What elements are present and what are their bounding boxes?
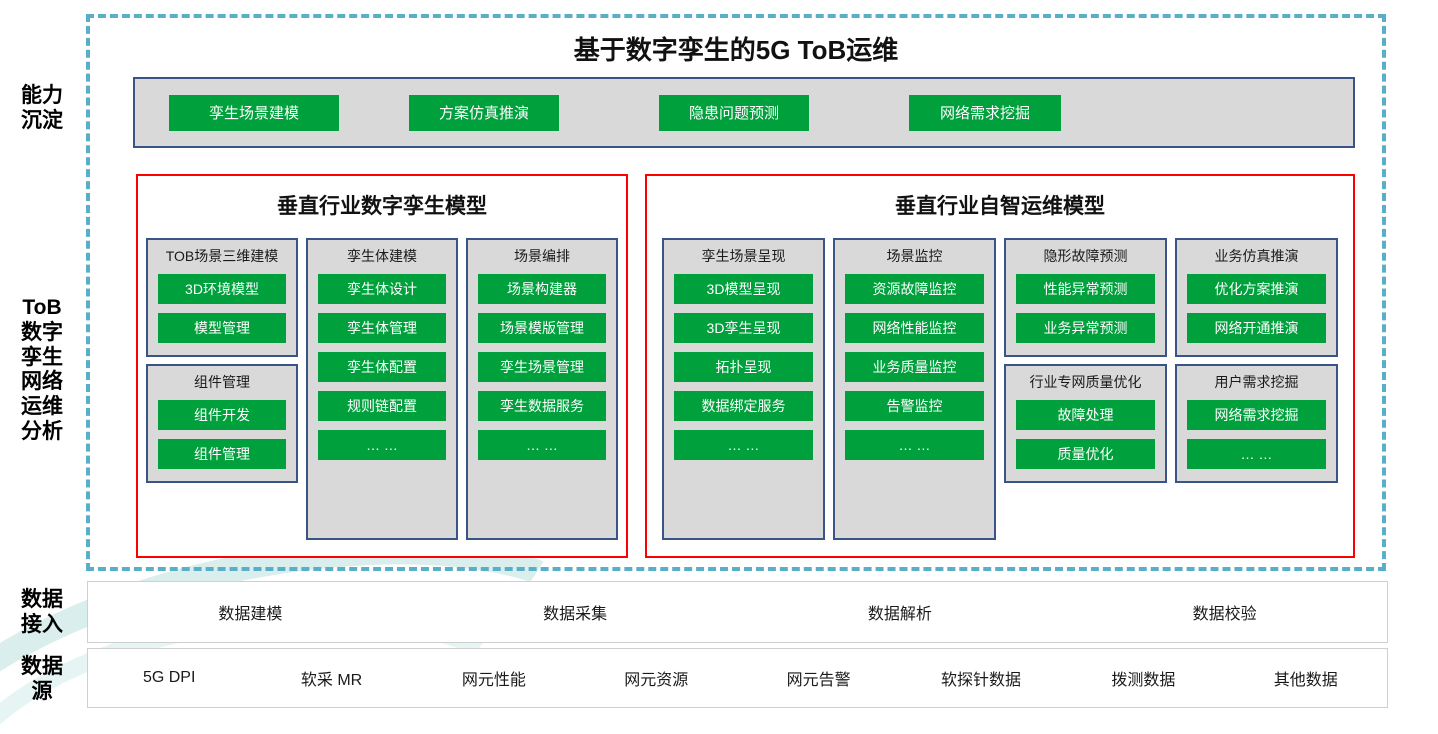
group-title: 用户需求挖掘 xyxy=(1187,374,1326,391)
rail-label-core: ToB数字孪生网络运维分析 xyxy=(0,296,84,445)
group-box: 孪生场景呈现3D模型呈现3D孪生呈现拓扑呈现数据绑定服务… … xyxy=(662,238,825,540)
data-source-row: 5G DPI软采 MR网元性能网元资源网元告警软探针数据拨测数据其他数据 xyxy=(87,648,1388,708)
group-box: 场景编排场景构建器场景模版管理孪生场景管理孪生数据服务… … xyxy=(466,238,618,540)
capability-tile[interactable]: 数据绑定服务 xyxy=(674,391,813,421)
capability-tile[interactable]: 网络性能监控 xyxy=(845,313,984,343)
group-title: 孪生体建模 xyxy=(318,248,446,265)
group-title: 场景编排 xyxy=(478,248,606,265)
data-access-item: 数据校验 xyxy=(1062,600,1387,624)
group-box: 组件管理组件开发组件管理 xyxy=(146,364,298,483)
rail-access-line-0: 数据 xyxy=(0,588,84,613)
rail-label-capability: 能力沉淀 xyxy=(0,84,84,134)
data-source-item: 5G DPI xyxy=(88,669,250,687)
data-source-item: 其他数据 xyxy=(1225,666,1387,690)
capability-chip-1[interactable]: 孪生场景建模 xyxy=(169,95,339,131)
capability-tile[interactable]: 业务异常预测 xyxy=(1016,313,1155,343)
panel-column-3: 场景编排场景构建器场景模版管理孪生场景管理孪生数据服务… … xyxy=(466,238,618,540)
capability-tile[interactable]: 场景构建器 xyxy=(478,274,606,304)
panel-column-3: 隐形故障预测性能异常预测业务异常预测行业专网质量优化故障处理质量优化 xyxy=(1004,238,1167,540)
rail-core-line-5: 分析 xyxy=(0,420,84,445)
rail-core-line-2: 孪生 xyxy=(0,346,84,371)
group-title: TOB场景三维建模 xyxy=(158,248,286,265)
rail-core-line-3: 网络 xyxy=(0,370,84,395)
capability-chip-4[interactable]: 网络需求挖掘 xyxy=(909,95,1061,131)
group-box: 场景监控资源故障监控网络性能监控业务质量监控告警监控… … xyxy=(833,238,996,540)
group-box: TOB场景三维建模3D环境模型模型管理 xyxy=(146,238,298,357)
capability-chip-list: 孪生场景建模方案仿真推演隐患问题预测网络需求挖掘 xyxy=(135,95,1353,131)
rail-core-line-4: 运维 xyxy=(0,395,84,420)
diagram-root: 能力沉淀 ToB数字孪生网络运维分析 数据接入 数据源 基于数字孪生的5G To… xyxy=(0,0,1438,734)
panel-column-4: 业务仿真推演优化方案推演网络开通推演用户需求挖掘网络需求挖掘… … xyxy=(1175,238,1338,540)
capability-tile[interactable]: 资源故障监控 xyxy=(845,274,984,304)
capability-chip-2[interactable]: 方案仿真推演 xyxy=(409,95,559,131)
panel-autonomous-ops-model: 垂直行业自智运维模型 孪生场景呈现3D模型呈现3D孪生呈现拓扑呈现数据绑定服务…… xyxy=(645,174,1355,558)
capability-tile[interactable]: 性能异常预测 xyxy=(1016,274,1155,304)
capability-tile[interactable]: 模型管理 xyxy=(158,313,286,343)
capability-tile[interactable]: 孪生数据服务 xyxy=(478,391,606,421)
capability-tile[interactable]: 质量优化 xyxy=(1016,439,1155,469)
capability-tile[interactable]: 故障处理 xyxy=(1016,400,1155,430)
group-box: 行业专网质量优化故障处理质量优化 xyxy=(1004,364,1167,483)
capability-tile[interactable]: 孪生体配置 xyxy=(318,352,446,382)
capability-tile[interactable]: 拓扑呈现 xyxy=(674,352,813,382)
rail-label-data-source: 数据源 xyxy=(0,655,84,705)
panel-column-1: TOB场景三维建模3D环境模型模型管理组件管理组件开发组件管理 xyxy=(146,238,298,540)
panel-column-list: 孪生场景呈现3D模型呈现3D孪生呈现拓扑呈现数据绑定服务… …场景监控资源故障监… xyxy=(647,238,1353,540)
capability-tile[interactable]: 组件开发 xyxy=(158,400,286,430)
data-source-item: 软探针数据 xyxy=(900,666,1062,690)
panel-title: 垂直行业自智运维模型 xyxy=(647,190,1353,220)
group-title: 行业专网质量优化 xyxy=(1016,374,1155,391)
panel-column-list: TOB场景三维建模3D环境模型模型管理组件管理组件开发组件管理孪生体建模孪生体设… xyxy=(138,238,626,540)
data-access-item: 数据建模 xyxy=(88,600,413,624)
capability-tile[interactable]: … … xyxy=(845,430,984,460)
rail-source-line-1: 源 xyxy=(0,680,84,705)
panel-column-2: 场景监控资源故障监控网络性能监控业务质量监控告警监控… … xyxy=(833,238,996,540)
group-title: 场景监控 xyxy=(845,248,984,265)
capability-tile[interactable]: 3D孪生呈现 xyxy=(674,313,813,343)
capability-tile[interactable]: 孪生场景管理 xyxy=(478,352,606,382)
data-access-row: 数据建模数据采集数据解析数据校验 xyxy=(87,581,1388,643)
rail-core-line-0: ToB xyxy=(0,296,84,321)
group-title: 业务仿真推演 xyxy=(1187,248,1326,265)
capability-tile[interactable]: 3D环境模型 xyxy=(158,274,286,304)
data-access-item: 数据采集 xyxy=(413,600,738,624)
rail-label-data-access: 数据接入 xyxy=(0,588,84,638)
capability-tile[interactable]: … … xyxy=(1187,439,1326,469)
capability-tile[interactable]: 告警监控 xyxy=(845,391,984,421)
capability-tile[interactable]: 业务质量监控 xyxy=(845,352,984,382)
panel-title: 垂直行业数字孪生模型 xyxy=(138,190,626,220)
rail-capability-line-1: 沉淀 xyxy=(0,109,84,134)
group-box: 用户需求挖掘网络需求挖掘… … xyxy=(1175,364,1338,483)
capability-tile[interactable]: 优化方案推演 xyxy=(1187,274,1326,304)
capability-tile[interactable]: 场景模版管理 xyxy=(478,313,606,343)
capability-bar: 孪生场景建模方案仿真推演隐患问题预测网络需求挖掘 xyxy=(133,77,1355,148)
capability-tile[interactable]: … … xyxy=(478,430,606,460)
group-title: 孪生场景呈现 xyxy=(674,248,813,265)
capability-tile[interactable]: 网络需求挖掘 xyxy=(1187,400,1326,430)
data-source-item: 网元告警 xyxy=(738,666,900,690)
capability-tile[interactable]: … … xyxy=(674,430,813,460)
data-access-item: 数据解析 xyxy=(738,600,1063,624)
page-title: 基于数字孪生的5G ToB运维 xyxy=(86,30,1386,67)
group-box: 业务仿真推演优化方案推演网络开通推演 xyxy=(1175,238,1338,357)
capability-tile[interactable]: … … xyxy=(318,430,446,460)
group-box: 隐形故障预测性能异常预测业务异常预测 xyxy=(1004,238,1167,357)
rail-capability-line-0: 能力 xyxy=(0,84,84,109)
data-source-item: 软采 MR xyxy=(250,666,412,690)
data-source-item: 网元资源 xyxy=(575,666,737,690)
panel-digital-twin-model: 垂直行业数字孪生模型 TOB场景三维建模3D环境模型模型管理组件管理组件开发组件… xyxy=(136,174,628,558)
capability-tile[interactable]: 3D模型呈现 xyxy=(674,274,813,304)
data-source-item: 网元性能 xyxy=(413,666,575,690)
capability-tile[interactable]: 网络开通推演 xyxy=(1187,313,1326,343)
panel-column-1: 孪生场景呈现3D模型呈现3D孪生呈现拓扑呈现数据绑定服务… … xyxy=(662,238,825,540)
rail-core-line-1: 数字 xyxy=(0,321,84,346)
capability-chip-3[interactable]: 隐患问题预测 xyxy=(659,95,809,131)
group-title: 组件管理 xyxy=(158,374,286,391)
capability-tile[interactable]: 组件管理 xyxy=(158,439,286,469)
data-source-item: 拨测数据 xyxy=(1062,666,1224,690)
capability-tile[interactable]: 孪生体设计 xyxy=(318,274,446,304)
capability-tile[interactable]: 孪生体管理 xyxy=(318,313,446,343)
capability-tile[interactable]: 规则链配置 xyxy=(318,391,446,421)
rail-source-line-0: 数据 xyxy=(0,655,84,680)
group-box: 孪生体建模孪生体设计孪生体管理孪生体配置规则链配置… … xyxy=(306,238,458,540)
group-title: 隐形故障预测 xyxy=(1016,248,1155,265)
rail-access-line-1: 接入 xyxy=(0,613,84,638)
panel-column-2: 孪生体建模孪生体设计孪生体管理孪生体配置规则链配置… … xyxy=(306,238,458,540)
